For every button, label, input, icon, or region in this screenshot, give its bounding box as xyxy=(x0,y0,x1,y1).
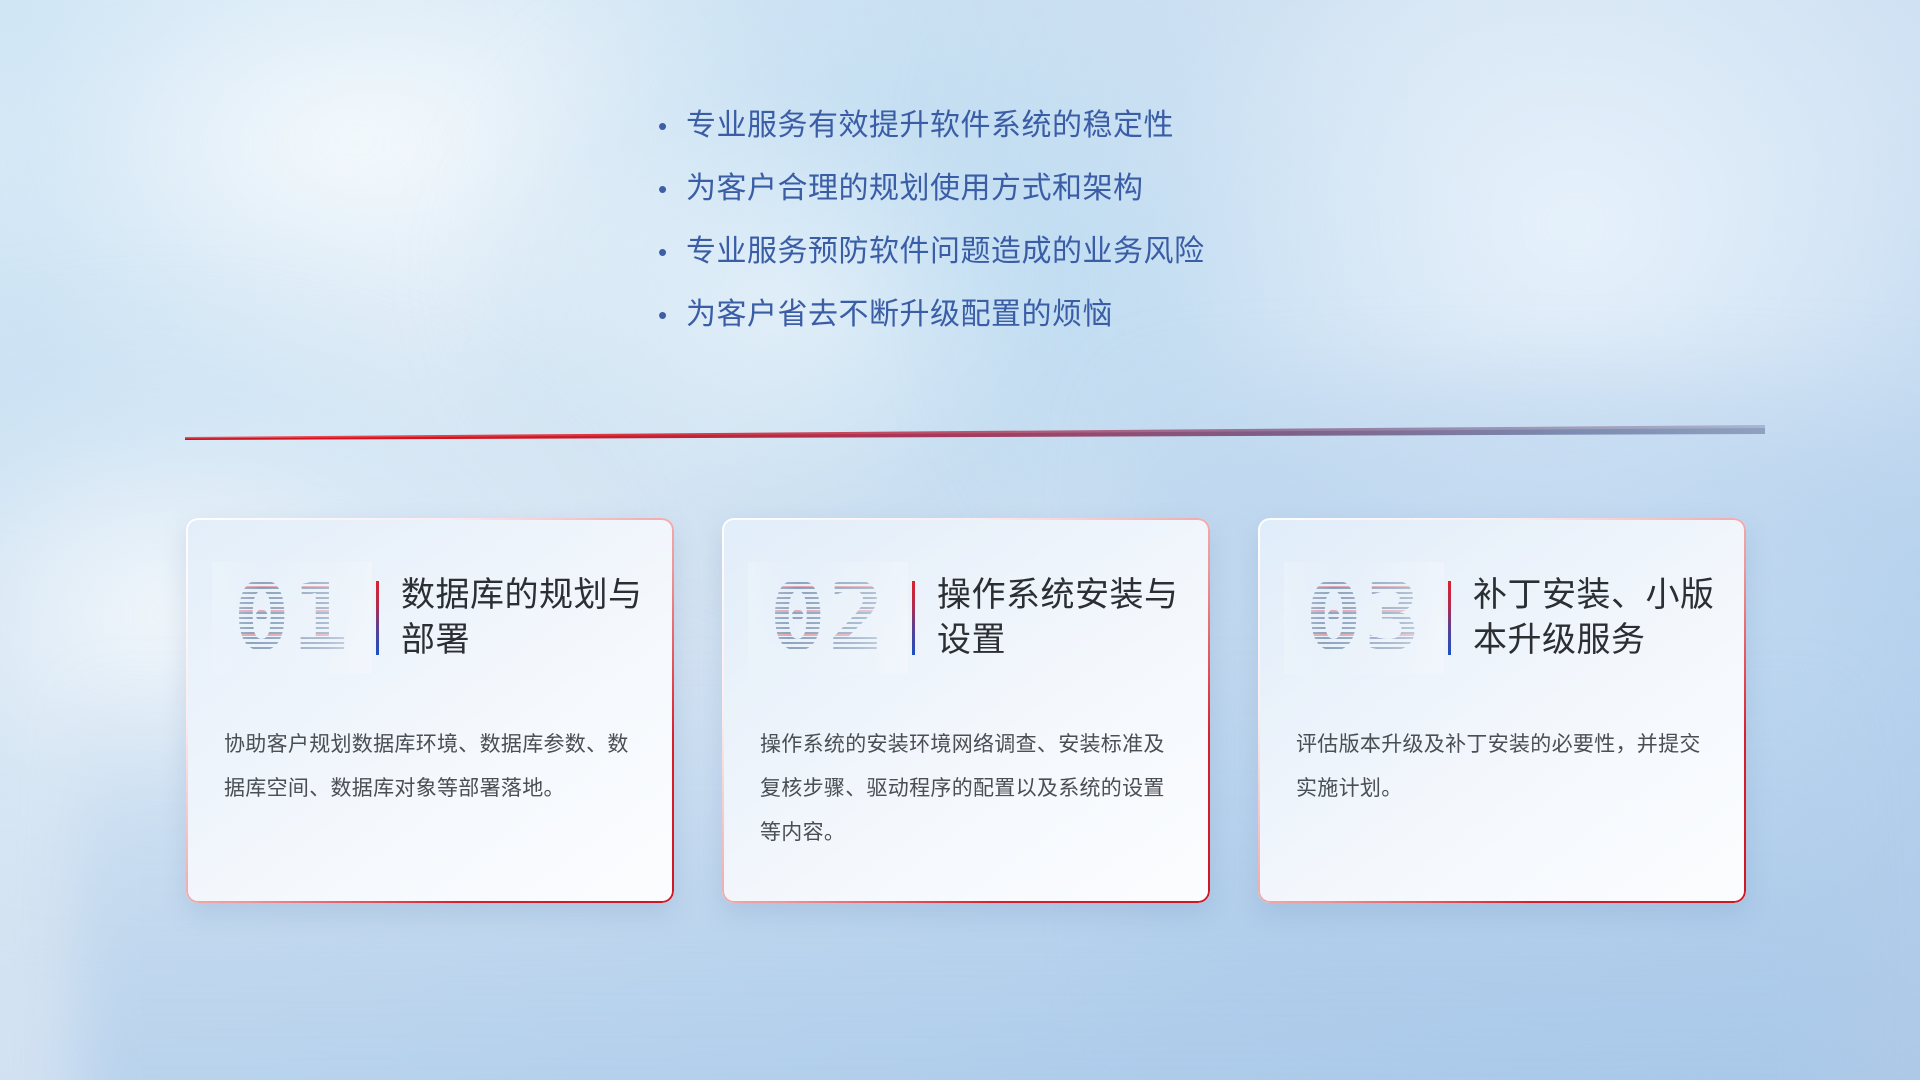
list-item: • 为客户合理的规划使用方式和架构 xyxy=(658,171,1418,207)
card-body-text: 评估版本升级及补丁安装的必要性，并提交实施计划。 xyxy=(1296,723,1706,811)
bullet-text: 专业服务预防软件问题造成的业务风险 xyxy=(686,234,1205,270)
card-title: 操作系统安装与设置 xyxy=(937,573,1210,663)
card-body-text: 协助客户规划数据库环境、数据库参数、数据库空间、数据库对象等部署落地。 xyxy=(224,723,634,811)
card-number-fade-overlay xyxy=(212,562,372,674)
card-title-rule xyxy=(376,581,379,655)
card-group: 01 01 数据库的规划与部署 协助客户规划数据库环境、数据库参数、数据库空间、… xyxy=(186,518,1746,918)
card-header: 03 03 补丁安装、小版本升级服务 xyxy=(1258,552,1746,684)
card-header: 01 01 数据库的规划与部署 xyxy=(186,552,674,684)
card-number: 01 01 xyxy=(212,562,372,674)
section-divider xyxy=(185,424,1765,440)
bullet-dot-icon: • xyxy=(658,171,686,207)
card-title-rule xyxy=(912,581,915,655)
bullet-text: 为客户省去不断升级配置的烦恼 xyxy=(686,297,1113,333)
list-item: • 专业服务有效提升软件系统的稳定性 xyxy=(658,108,1418,144)
bullet-text: 为客户合理的规划使用方式和架构 xyxy=(686,171,1144,207)
card-03[interactable]: 03 03 补丁安装、小版本升级服务 评估版本升级及补丁安装的必要性，并提交实施… xyxy=(1258,518,1746,903)
card-number-fade-overlay xyxy=(1284,562,1444,674)
card-title: 数据库的规划与部署 xyxy=(401,573,674,663)
divider-shape xyxy=(185,424,1765,440)
slide-root: • 专业服务有效提升软件系统的稳定性 • 为客户合理的规划使用方式和架构 • 专… xyxy=(0,0,1920,1080)
bullet-dot-icon: • xyxy=(658,297,686,333)
card-number: 03 03 xyxy=(1284,562,1444,674)
list-item: • 专业服务预防软件问题造成的业务风险 xyxy=(658,234,1418,270)
card-body-text: 操作系统的安装环境网络调查、安装标准及复核步骤、驱动程序的配置以及系统的设置等内… xyxy=(760,723,1170,855)
card-number: 02 02 xyxy=(748,562,908,674)
bullet-list: • 专业服务有效提升软件系统的稳定性 • 为客户合理的规划使用方式和架构 • 专… xyxy=(658,108,1418,360)
bullet-dot-icon: • xyxy=(658,234,686,270)
bullet-dot-icon: • xyxy=(658,108,686,144)
list-item: • 为客户省去不断升级配置的烦恼 xyxy=(658,297,1418,333)
card-header: 02 02 操作系统安装与设置 xyxy=(722,552,1210,684)
bullet-text: 专业服务有效提升软件系统的稳定性 xyxy=(686,108,1174,144)
card-number-fade-overlay xyxy=(748,562,908,674)
card-title-rule xyxy=(1448,581,1451,655)
card-01[interactable]: 01 01 数据库的规划与部署 协助客户规划数据库环境、数据库参数、数据库空间、… xyxy=(186,518,674,903)
card-title: 补丁安装、小版本升级服务 xyxy=(1473,573,1746,663)
card-02[interactable]: 02 02 操作系统安装与设置 操作系统的安装环境网络调查、安装标准及复核步骤、… xyxy=(722,518,1210,903)
